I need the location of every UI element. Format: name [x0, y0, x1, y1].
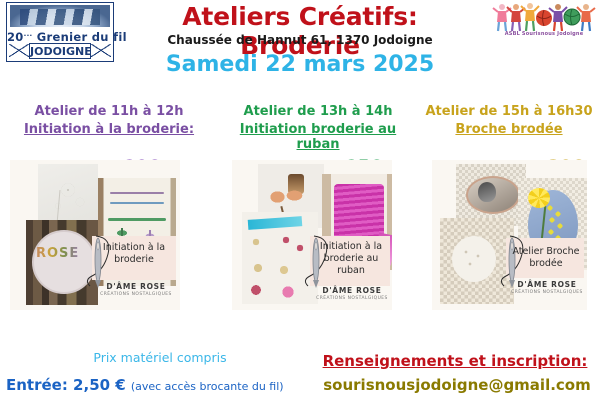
grenier-logo-year-sup: ... — [24, 30, 33, 38]
workshop-title-1: Initiation à la broderie: — [2, 122, 216, 137]
grenier-logo-city: JODOIGNE — [29, 43, 91, 59]
card-brand-1: D'ÂME ROSE CRÉATIONS NOSTALGIQUES — [98, 282, 174, 297]
grenier-logo-bottom: JODOIGNE — [7, 42, 113, 61]
poster-header: 20... Grenier du fil JODOIGNE Ateliers C… — [0, 0, 600, 88]
entry-fee-note: (avec accès brocante du fil) — [131, 380, 284, 393]
contact-email[interactable]: sourisnousjodoigne@gmail.com — [314, 376, 600, 394]
brand-name-3: D'ÂME ROSE — [508, 280, 586, 289]
brand-tagline-1: CRÉATIONS NOSTALGIQUES — [98, 292, 174, 297]
chevron-right-icon — [91, 44, 111, 57]
workshop-card-2: Initiation à la broderie au ruban D'ÂME … — [232, 160, 392, 310]
material-included-note: Prix matériel compris — [40, 350, 280, 365]
card-brand-3: D'ÂME ROSE CRÉATIONS NOSTALGIQUES — [508, 280, 586, 295]
brand-tagline-3: CRÉATIONS NOSTALGIQUES — [508, 290, 586, 295]
asbl-logo-caption: ASBL Sourisnous Jodoigne — [492, 31, 596, 37]
event-date: Samedi 22 mars 2025 — [120, 52, 480, 77]
chevron-left-icon — [9, 44, 29, 57]
poster-root: 20... Grenier du fil JODOIGNE Ateliers C… — [0, 0, 600, 400]
workshop-card-1: ROSE Initiation à la broderie D'ÂME ROSE… — [10, 160, 180, 310]
card-brand-2: D'ÂME ROSE CRÉATIONS NOSTALGIQUES — [314, 286, 390, 301]
brand-tagline-2: CRÉATIONS NOSTALGIQUES — [314, 296, 390, 301]
workshop-time-3: Atelier de 15h à 16h30 — [420, 104, 598, 119]
asbl-sourisnous-logo: ASBL Sourisnous Jodoigne — [492, 2, 596, 44]
workshop-time-2: Atelier de 13h à 14h — [218, 104, 418, 119]
grenier-logo-photo — [10, 5, 110, 27]
contact-heading: Renseignements et inscription: — [314, 352, 596, 370]
grenier-du-fil-logo: 20... Grenier du fil JODOIGNE — [6, 2, 114, 62]
workshop-heading-3: Atelier de 15h à 16h30 Broche brodée — [420, 104, 598, 137]
workshop-card-3: Atelier Broche brodée D'ÂME ROSE CRÉATIO… — [432, 160, 587, 310]
workshop-heading-1: Atelier de 11h à 12h Initiation à la bro… — [2, 104, 216, 137]
card-caption-3: Atelier Broche brodée — [508, 246, 584, 270]
children-figures-icon — [492, 2, 596, 32]
grenier-logo-band: 20... Grenier du fil — [7, 27, 113, 42]
workshop-title-2: Initiation broderie au ruban — [218, 122, 418, 152]
card-caption-1: Initiation à la broderie — [96, 242, 172, 266]
photo-cameo-brooch — [456, 164, 526, 226]
brand-name-2: D'ÂME ROSE — [314, 286, 390, 295]
entry-fee: Entrée: 2,50 € (avec accès brocante du f… — [6, 375, 306, 394]
card-caption-2: Initiation à la broderie au ruban — [314, 241, 388, 277]
workshop-heading-2: Atelier de 13h à 14h Initiation broderie… — [218, 104, 418, 152]
brand-name-1: D'ÂME ROSE — [98, 282, 174, 291]
entry-fee-amount: Entrée: 2,50 € — [6, 376, 126, 394]
workshop-title-3: Broche brodée — [420, 122, 598, 137]
venue-address: Chaussée de Hannut 61, 1370 Jodoigne — [120, 33, 480, 47]
workshop-time-1: Atelier de 11h à 12h — [2, 104, 216, 119]
